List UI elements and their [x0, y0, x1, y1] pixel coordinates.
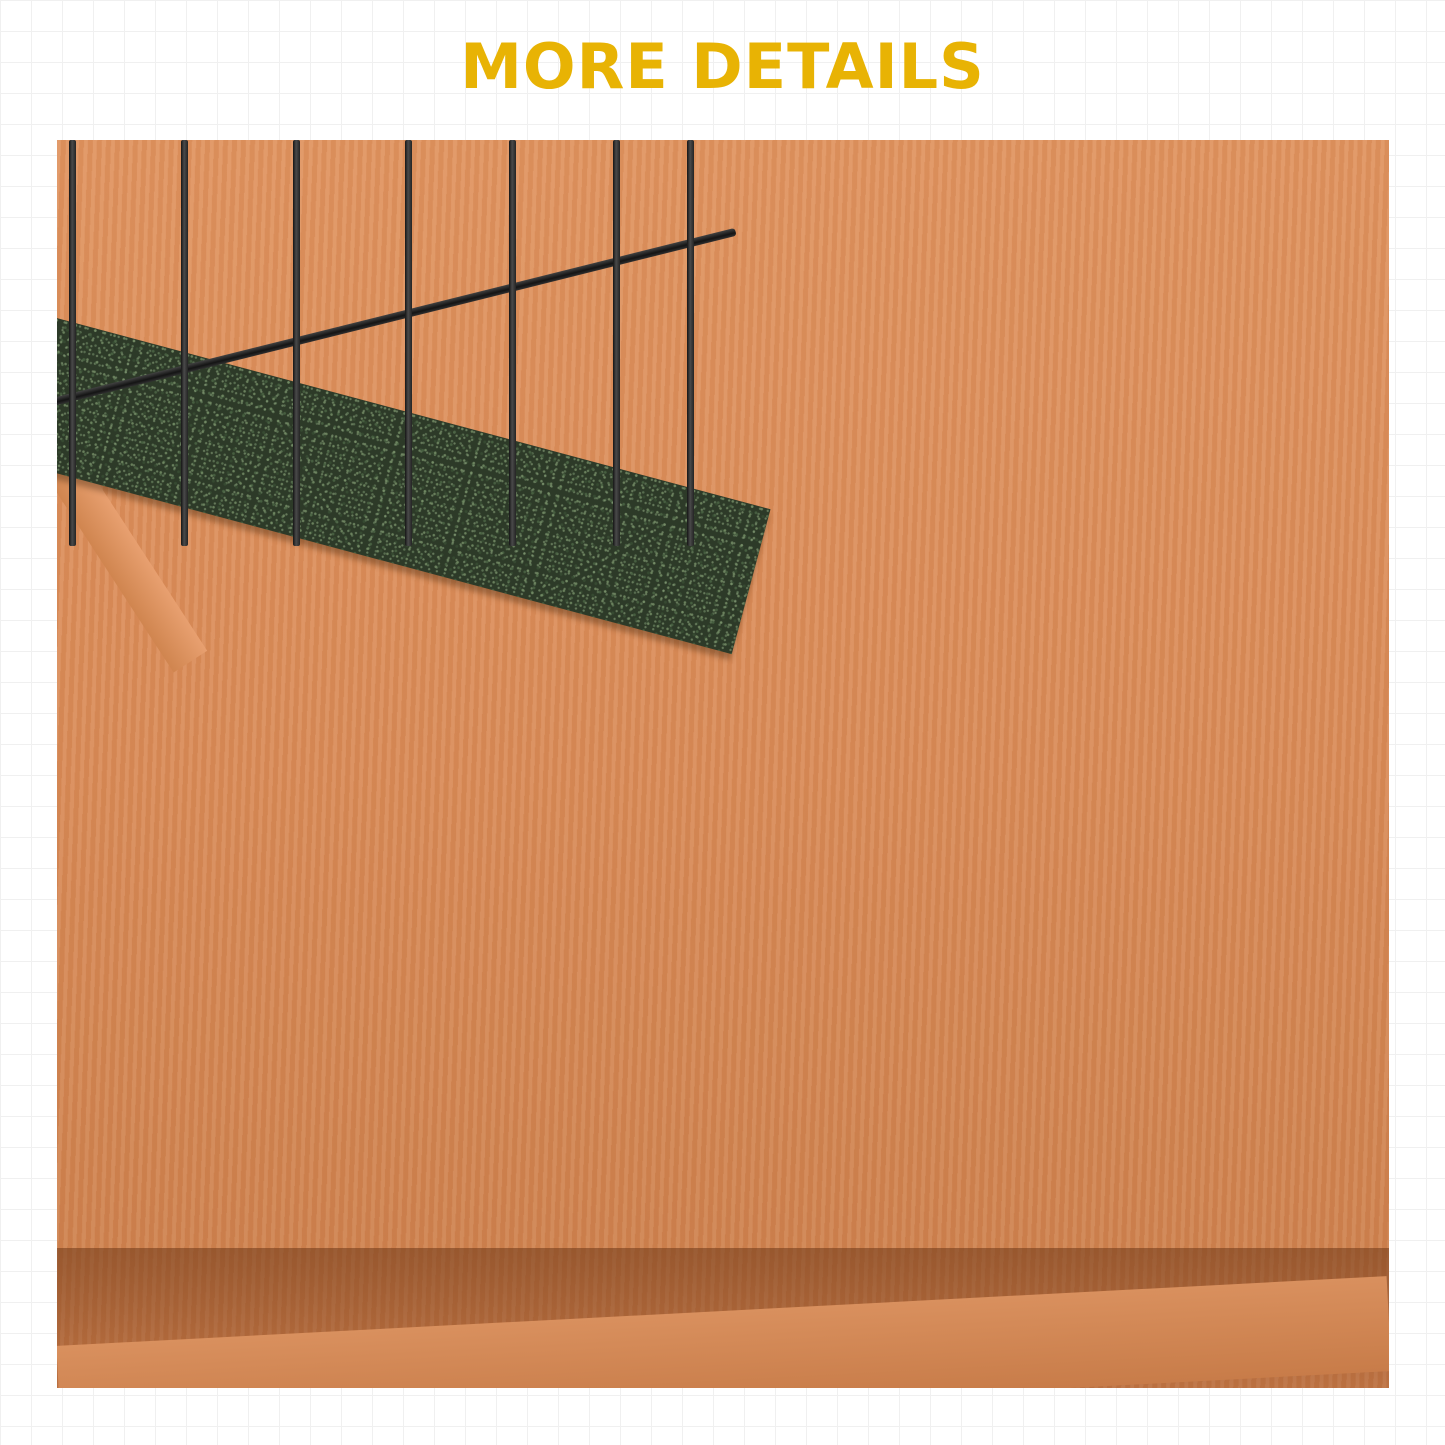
features-grid: Asphalt Roof Keep home dry and warm: [57, 140, 1389, 1388]
feature-card-ramp[interactable]: Ramp: [744, 773, 1389, 1321]
ramp-back-wall: [744, 773, 1389, 1321]
feature-block-ramp: Ramp Connect two tiers: [744, 773, 1389, 1388]
page-title: MORE DETAILS: [0, 0, 1445, 98]
card-photo-ramp: [744, 773, 1389, 1321]
